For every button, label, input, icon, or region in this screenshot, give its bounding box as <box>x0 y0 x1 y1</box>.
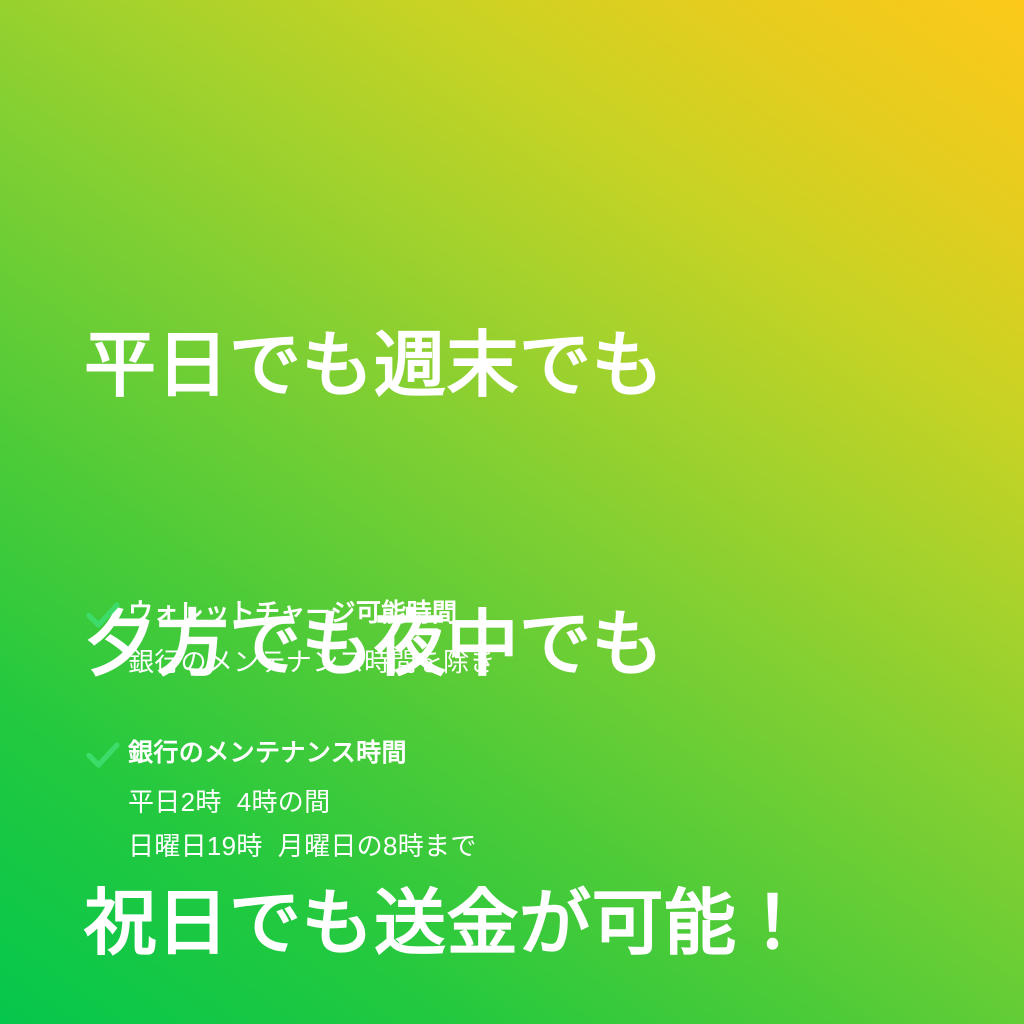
checklist-item-detail: 銀行のメンテナンス時間を除き <box>128 640 946 684</box>
checklist-item-detail: 平日2時 4時の間 <box>128 780 946 824</box>
checklist-item: 銀行のメンテナンス時間 平日2時 4時の間 日曜日19時 月曜日の8時まで <box>86 736 946 868</box>
headline: 平日でも週末でも 夕方でも夜中でも 祝日でも送金が可能！ <box>84 134 944 1024</box>
checklist-item-heading: ウォレットチャージ可能時間 <box>128 596 946 630</box>
checklist-item: ウォレットチャージ可能時間 銀行のメンテナンス時間を除き <box>86 596 946 684</box>
check-icon <box>86 600 120 630</box>
headline-line-3: 祝日でも送金が可能！ <box>84 878 944 971</box>
checklist-item-detail: 日曜日19時 月曜日の8時まで <box>128 824 946 868</box>
checklist-item-heading: 銀行のメンテナンス時間 <box>128 736 946 770</box>
promo-poster: 平日でも週末でも 夕方でも夜中でも 祝日でも送金が可能！ ウォレットチャージ可能… <box>0 0 1024 1024</box>
checklist: ウォレットチャージ可能時間 銀行のメンテナンス時間を除き 銀行のメンテナンス時間… <box>86 596 946 868</box>
headline-line-1: 平日でも週末でも <box>84 320 944 413</box>
check-icon <box>86 740 120 770</box>
